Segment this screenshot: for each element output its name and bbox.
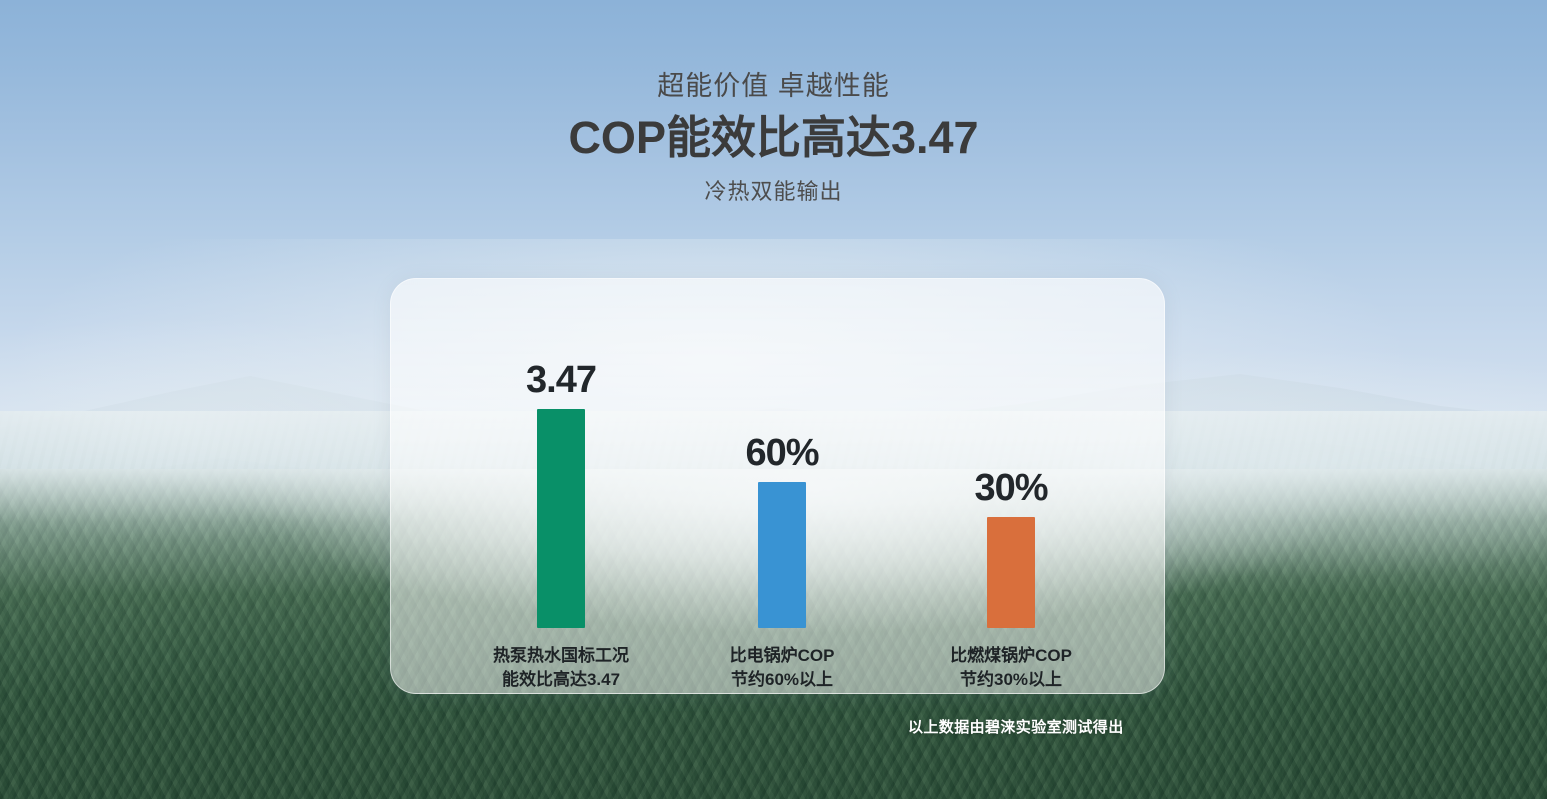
chart-column-0: 3.47 热泵热水国标工况 能效比高达3.47 (466, 361, 656, 693)
bar-category-1-line2: 节约60%以上 (697, 668, 867, 693)
bar-value-label-1: 60% (697, 434, 867, 472)
bar-category-0-line2: 能效比高达3.47 (466, 668, 656, 693)
bar-chart: 3.47 热泵热水国标工况 能效比高达3.47 60% 比电锅炉COP 节约60… (391, 279, 1164, 693)
bar-category-0-line1: 热泵热水国标工况 (466, 644, 656, 669)
header-subtitle: 冷热双能输出 (0, 174, 1547, 206)
bar-category-1-line1: 比电锅炉COP (697, 644, 867, 669)
source-footnote: 以上数据由碧涞实验室测试得出 (908, 716, 1124, 737)
bar-category-1: 比电锅炉COP 节约60%以上 (697, 644, 867, 693)
chart-column-1: 60% 比电锅炉COP 节约60%以上 (697, 434, 867, 693)
poster-canvas: 超能价值 卓越性能 COP能效比高达3.47 冷热双能输出 3.47 热泵热水国… (0, 0, 1547, 799)
bar-0 (537, 409, 585, 628)
bar-1 (758, 482, 806, 628)
bar-value-label-2: 30% (918, 469, 1104, 507)
bar-category-0: 热泵热水国标工况 能效比高达3.47 (466, 644, 656, 693)
bar-2 (987, 517, 1035, 628)
header-block: 超能价值 卓越性能 COP能效比高达3.47 冷热双能输出 (0, 0, 1547, 206)
page-title: COP能效比高达3.47 (0, 112, 1547, 164)
bar-category-2-line2: 节约30%以上 (918, 668, 1104, 693)
bar-category-2: 比燃煤锅炉COP 节约30%以上 (918, 644, 1104, 693)
bar-value-label-0: 3.47 (466, 361, 656, 399)
chart-card: 3.47 热泵热水国标工况 能效比高达3.47 60% 比电锅炉COP 节约60… (390, 278, 1165, 694)
bar-category-2-line1: 比燃煤锅炉COP (918, 644, 1104, 669)
header-eyebrow: 超能价值 卓越性能 (0, 70, 1547, 104)
chart-column-2: 30% 比燃煤锅炉COP 节约30%以上 (918, 469, 1104, 693)
